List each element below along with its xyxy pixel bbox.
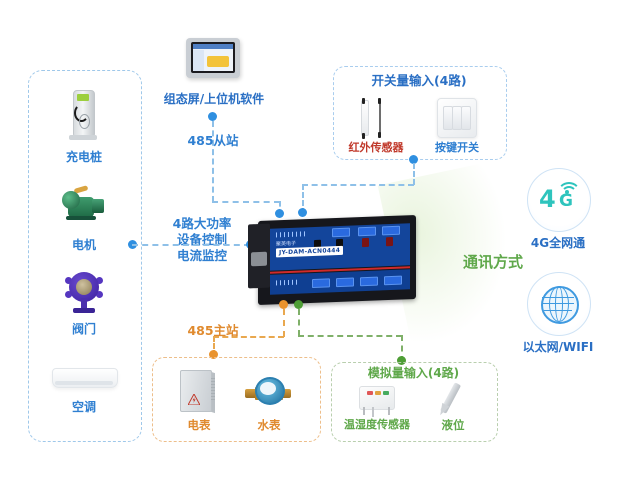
label-485-master: 485主站 — [163, 323, 263, 339]
analog-label-liquid-level: 液位 — [422, 418, 484, 432]
load-link-line3: 电流监控 — [150, 248, 254, 264]
rs485-label-electric-meter: 电表 — [168, 418, 230, 432]
device-side-connector — [248, 224, 270, 289]
rs485-label-water-meter: 水表 — [238, 418, 300, 432]
diagram-canvas: 充电桩 电机 阀门 空调 组态屏/上位机软件 485从站 开关量输入(4路) — [0, 0, 618, 497]
water-meter-icon — [245, 375, 293, 409]
digital-input-label-infrared: 红外传感器 — [336, 141, 416, 155]
load-link-line1: 4路大功率 — [150, 216, 254, 232]
db9-port-icon — [251, 252, 267, 267]
temperature-humidity-sensor-icon — [359, 386, 395, 418]
wall-switch-icon — [437, 98, 477, 138]
connector-dot-device-analog — [294, 300, 303, 309]
connector-dot-hmi — [208, 112, 217, 121]
butterfly-valve-icon — [65, 272, 105, 316]
connector-analog-vertical — [298, 309, 300, 336]
communication-label-ethernet-wifi: 以太网/WIFI — [500, 340, 616, 355]
connector-analog-horizontal — [298, 335, 402, 337]
analog-input-title: 模拟量输入(4路) — [331, 366, 496, 381]
controller-device[interactable]: 聚英电子 JY-DAM-ACN0444 — [248, 210, 418, 308]
charging-pile-icon — [73, 90, 95, 142]
electric-hazard-sign — [188, 390, 200, 401]
connector-di-vertical — [413, 163, 415, 185]
device-brand: 聚英电子 — [276, 240, 296, 248]
connector-hmi-horizontal — [212, 201, 280, 203]
hmi-panel-icon — [186, 38, 240, 80]
digital-input-label-button-switch: 按键开关 — [417, 141, 497, 155]
infrared-sensor-icon — [358, 98, 390, 136]
load-label-air-conditioner: 空调 — [44, 400, 124, 415]
hmi-label: 组态屏/上位机软件 — [143, 92, 285, 107]
device-front-panel: 聚英电子 JY-DAM-ACN0444 — [270, 223, 410, 270]
digital-input-title: 开关量输入(4路) — [333, 73, 505, 89]
connector-di-horizontal — [302, 184, 414, 186]
electric-meter-icon — [180, 370, 218, 414]
label-485-slave: 485从站 — [157, 133, 269, 149]
connector-485master-vertical — [283, 309, 285, 337]
load-label-charging-pile: 充电桩 — [44, 150, 124, 165]
analog-label-temp-humidity: 温湿度传感器 — [334, 418, 420, 432]
load-label-motor: 电机 — [44, 238, 124, 253]
load-label-valve: 阀门 — [44, 322, 124, 337]
communication-label-4g: 4G全网通 — [505, 236, 611, 251]
liquid-level-probe-icon — [435, 382, 469, 418]
connector-dot-device-485master — [279, 300, 288, 309]
communication-title: 通讯方式 — [440, 253, 546, 272]
connector-load-horizontal — [132, 244, 250, 246]
device-model-label: JY-DAM-ACN0444 — [276, 246, 343, 258]
water-pump-icon — [62, 185, 108, 223]
4g-signal-icon: 4 G — [527, 168, 591, 232]
air-conditioner-icon — [52, 368, 116, 388]
globe-network-icon — [527, 272, 591, 336]
